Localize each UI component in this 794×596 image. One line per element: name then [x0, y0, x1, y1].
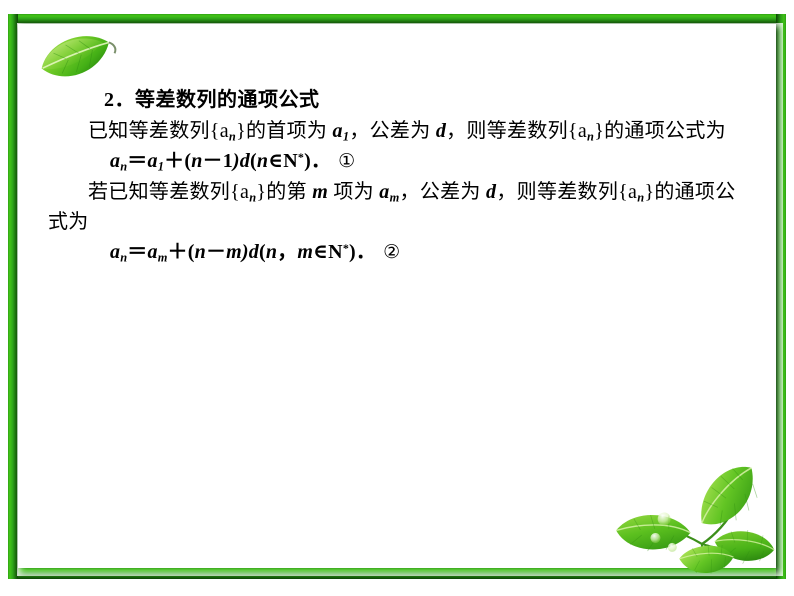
p1-text-e: }的通项公式为: [594, 120, 726, 142]
p2-text-b: }的第: [256, 181, 312, 203]
f2-m: m: [226, 241, 242, 263]
paragraph-2: 若已知等差数列{an}的第 m 项为 am，公差为 d，则等差数列{an}的通项…: [48, 177, 754, 237]
p2-text-a: 若已知等差数列{a: [88, 181, 249, 203]
slide-content: 2．等差数列的通项公式 已知等差数列{an}的首项为 a1，公差为 d，则等差数…: [48, 86, 754, 268]
f2-n: n: [195, 241, 206, 263]
f2-set-n: N: [328, 241, 343, 263]
p1-sub-n-1: n: [229, 120, 236, 142]
f2-open-paren: (: [188, 241, 195, 263]
f1-close-d: )d: [233, 150, 250, 172]
p1-var-d: d: [436, 120, 446, 142]
p1-text-c: ，公差为: [349, 120, 436, 142]
leaf-icon: [26, 24, 122, 92]
section-heading: 2．等差数列的通项公式: [104, 86, 754, 114]
p1-var-a: a: [333, 120, 343, 142]
p2-var-d: d: [486, 181, 496, 203]
frame-border-top: [8, 14, 786, 24]
slide-canvas: 2．等差数列的通项公式 已知等差数列{an}的首项为 a1，公差为 d，则等差数…: [0, 0, 794, 596]
f2-cond-n: n: [266, 241, 277, 263]
p2-var-a: a: [379, 181, 389, 203]
f1-one: 1: [223, 150, 233, 172]
f1-equals: ＝: [127, 150, 147, 172]
f1-lhs-var: a: [110, 150, 120, 172]
f2-minus: －: [206, 241, 226, 263]
leaf-cluster-icon: [610, 452, 780, 578]
f1-plus: ＋: [164, 150, 184, 172]
f2-cond-m: m: [297, 241, 313, 263]
formula-1-label: ①: [331, 151, 355, 172]
f2-equals: ＝: [127, 241, 147, 263]
f1-cond-close: )．: [304, 150, 331, 172]
f1-n: n: [191, 150, 202, 172]
p2-text-e: ，则等差数列{a: [496, 181, 637, 203]
p2-text-c: 项为: [328, 181, 379, 203]
f2-lhs-var: a: [110, 241, 120, 263]
p2-sub-m: m: [390, 181, 400, 203]
f1-minus: －: [203, 150, 223, 172]
p2-var-m: m: [312, 181, 328, 203]
f2-rhs-var: a: [148, 241, 158, 263]
f2-cond-close: )．: [349, 241, 376, 263]
f1-cond-open: (: [250, 150, 257, 172]
f2-comma: ，: [277, 241, 297, 263]
f1-in-symbol: ∈: [268, 150, 283, 172]
f2-in-symbol: ∈: [313, 241, 328, 263]
f2-rhs-sub: m: [158, 241, 168, 263]
formula-2: an＝am＋(n－m)d(n，m∈N*)．②: [48, 237, 754, 268]
formula-1: an＝a1＋(n－1)d(n∈N*)．①: [48, 146, 754, 177]
p1-text-d: ，则等差数列{a: [446, 120, 587, 142]
f2-close-d: )d: [242, 241, 259, 263]
f2-cond-open: (: [259, 241, 266, 263]
formula-2-label: ②: [376, 242, 400, 263]
f1-set-n: N: [283, 150, 298, 172]
paragraph-1: 已知等差数列{an}的首项为 a1，公差为 d，则等差数列{an}的通项公式为: [48, 116, 754, 146]
p2-text-d: ，公差为: [400, 181, 487, 203]
f1-cond-n: n: [257, 150, 268, 172]
frame-border-left: [8, 14, 18, 579]
f2-plus: ＋: [168, 241, 188, 263]
p1-text-b: }的首项为: [236, 120, 332, 142]
p1-text-a: 已知等差数列{a: [88, 120, 229, 142]
f1-rhs-var: a: [148, 150, 158, 172]
